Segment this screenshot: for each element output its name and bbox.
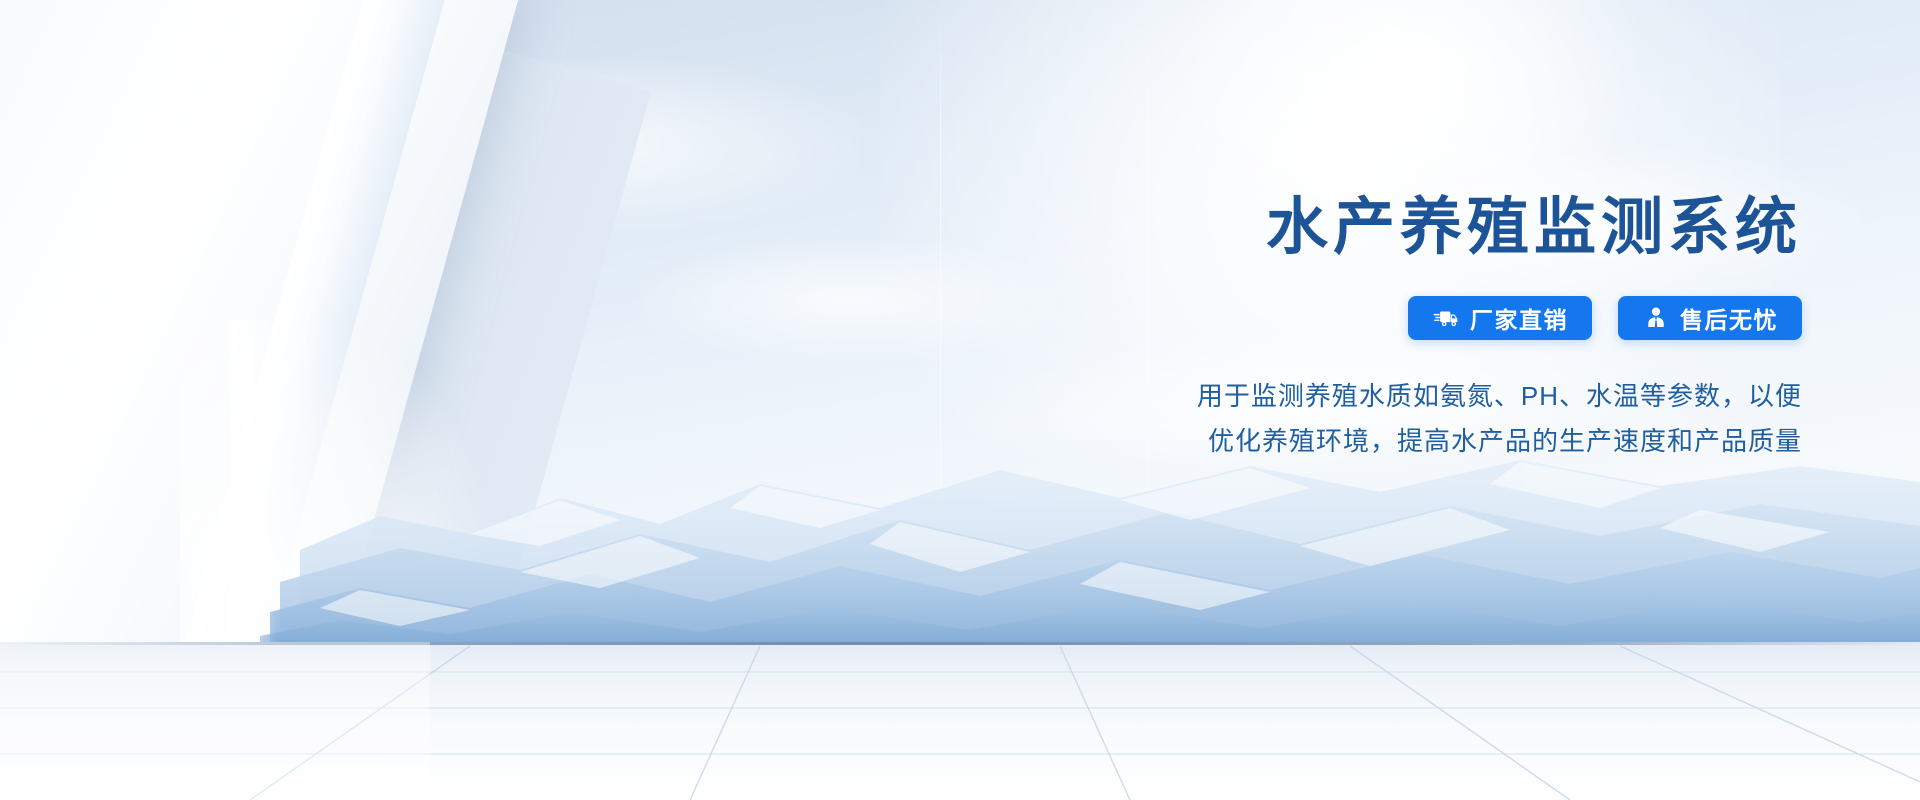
badge-factory-direct[interactable]: 厂家直销 [1408,296,1592,340]
cloud-wisp [640,240,1060,360]
badge-label: 厂家直销 [1470,301,1568,335]
aquaculture-monitoring-banner: 水产养殖监测系统 厂家直销 [0,0,1920,800]
description-line-1: 用于监测养殖水质如氨氮、PH、水温等参数，以便 [1082,374,1802,419]
badge-after-sales[interactable]: 售后无忧 [1618,296,1802,340]
description-line-2: 优化养殖环境，提高水产品的生产速度和产品质量 [1082,419,1802,464]
architecture-slab-shadow [0,0,651,800]
architecture-slab-edge [138,0,475,800]
badge-row: 厂家直销 售后无忧 [1082,296,1802,340]
banner-content: 水产养殖监测系统 厂家直销 [1082,196,1802,464]
architecture-slab-highlight [180,330,480,750]
badge-label: 售后无忧 [1680,301,1778,335]
glass-seam [940,0,941,620]
horizon-line [0,642,1920,645]
cloud-wisp [300,60,860,230]
architecture-slab [0,0,522,800]
plaza-ground [0,642,1920,800]
page-title: 水产养殖监测系统 [1082,196,1802,260]
banner-description: 用于监测养殖水质如氨氮、PH、水温等参数，以便 优化养殖环境，提高水产品的生产速… [1082,374,1802,463]
support-agent-icon [1642,304,1670,332]
delivery-truck-icon [1432,304,1460,332]
